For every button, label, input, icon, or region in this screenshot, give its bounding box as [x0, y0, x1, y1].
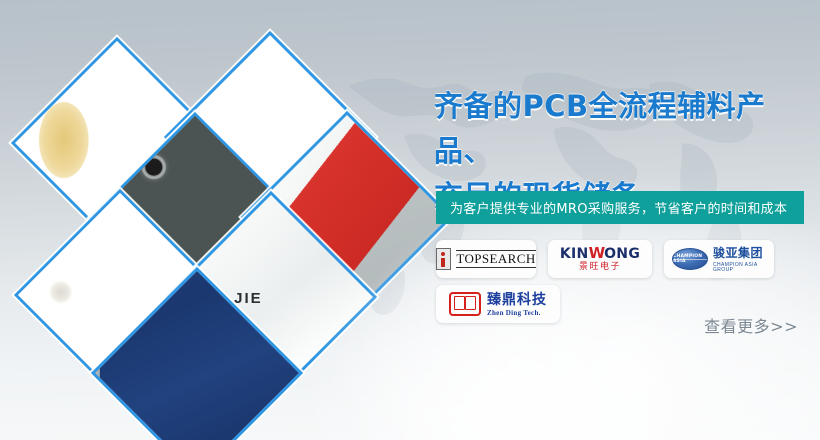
client-logo-row-1: TOPSEARCH KINWONG 景旺电子 CHAMPION ASIA 骏亚集… — [436, 240, 816, 278]
champion-logo-en: CHAMPION ASIA GROUP — [713, 263, 766, 273]
zhending-mark-icon — [449, 292, 481, 316]
topsearch-logo-text: TOPSEARCH — [456, 250, 535, 269]
kinwong-text-left: KIN — [560, 247, 589, 261]
globe-icon: CHAMPION ASIA — [672, 248, 708, 270]
champion-logo-cn: 骏亚集团 — [713, 246, 763, 260]
banner-content: 齐备的PCB全流程辅料产品、 充足的现货储备 为客户提供专业的MRO采购服务，节… — [428, 0, 820, 440]
kinwong-logo-subtext: 景旺电子 — [579, 263, 621, 272]
client-logo-champion-asia[interactable]: CHAMPION ASIA 骏亚集团 CHAMPION ASIA GROUP — [664, 240, 774, 278]
zhending-logo-en: Zhen Ding Tech. — [487, 310, 547, 317]
topsearch-mark-icon — [436, 248, 451, 270]
product-image-collage: JIE — [0, 0, 420, 440]
client-logo-kinwong[interactable]: KINWONG 景旺电子 — [548, 240, 652, 278]
promo-banner: JIE 齐备的PCB全流程辅料产品、 充足的现货储备 为客户提供专业的MRO采购… — [0, 0, 820, 440]
film-overlay-text: JIE — [234, 290, 263, 307]
view-more-link[interactable]: 查看更多>> — [704, 313, 798, 337]
banner-subtitle-text: 为客户提供专业的MRO采购服务，节省客户的时间和成本 — [436, 198, 787, 217]
champion-logo-text: 骏亚集团 CHAMPION ASIA GROUP — [713, 245, 766, 273]
kinwong-mark-icon: W — [589, 246, 605, 261]
kinwong-text-right: ONG — [604, 247, 640, 261]
banner-subtitle-bar: 为客户提供专业的MRO采购服务，节省客户的时间和成本 — [436, 191, 804, 224]
client-logo-zhen-ding[interactable]: 臻鼎科技 Zhen Ding Tech. — [436, 285, 560, 323]
kinwong-logo-text: KINWONG — [560, 246, 640, 261]
client-logo-topsearch[interactable]: TOPSEARCH — [436, 240, 536, 278]
zhending-logo-text: 臻鼎科技 Zhen Ding Tech. — [487, 292, 547, 317]
zhending-logo-cn: 臻鼎科技 — [487, 292, 547, 308]
globe-label: CHAMPION ASIA — [673, 254, 707, 264]
